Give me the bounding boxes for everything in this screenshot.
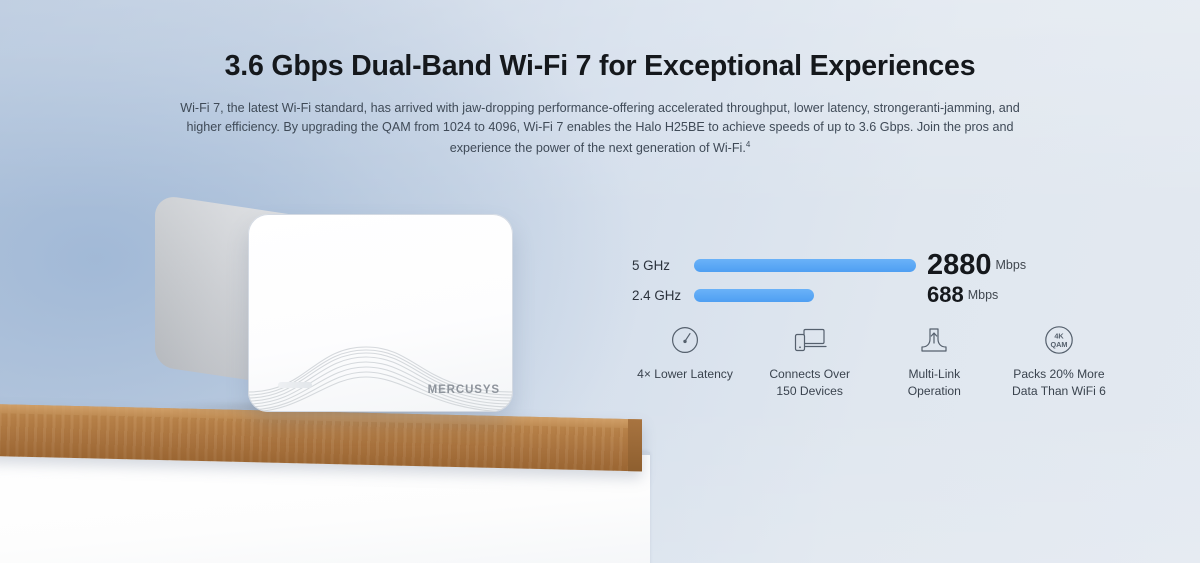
speed-label-24ghz: 2.4 GHz bbox=[632, 288, 694, 303]
qam-badge-icon: 4K QAM bbox=[1000, 320, 1118, 360]
devices-icon bbox=[751, 320, 869, 360]
speed-value-24ghz: 688 bbox=[927, 284, 964, 306]
multi-link-icon bbox=[875, 320, 993, 360]
feature-list: 4× Lower Latency Connects Over150 Device… bbox=[626, 320, 1118, 400]
feature-item-multilink: Multi-LinkOperation bbox=[875, 320, 993, 400]
feature-label-latency: 4× Lower Latency bbox=[626, 366, 744, 383]
router-product-image: MERCUSYS bbox=[155, 196, 517, 412]
speed-unit-5ghz: Mbps bbox=[996, 258, 1027, 272]
speed-unit-24ghz: Mbps bbox=[968, 288, 999, 302]
speed-fill-5ghz bbox=[694, 259, 916, 272]
speed-row-24ghz: 2.4 GHz 688 Mbps bbox=[632, 280, 1052, 310]
router-led-indicator bbox=[278, 382, 312, 388]
page-title: 3.6 Gbps Dual-Band Wi-Fi 7 for Exception… bbox=[0, 50, 1200, 83]
router-front-panel: MERCUSYS bbox=[248, 214, 513, 412]
feature-item-devices: Connects Over150 Devices bbox=[751, 320, 869, 400]
svg-text:QAM: QAM bbox=[1050, 340, 1067, 349]
gauge-icon bbox=[626, 320, 744, 360]
speed-label-5ghz: 5 GHz bbox=[632, 258, 694, 273]
feature-item-latency: 4× Lower Latency bbox=[626, 320, 744, 383]
speed-row-5ghz: 5 GHz 2880 Mbps bbox=[632, 250, 1052, 280]
speed-track-5ghz bbox=[694, 259, 916, 272]
hero-banner: MERCUSYS 3.6 Gbps Dual-Band Wi-Fi 7 for … bbox=[0, 0, 1200, 563]
shelf-end-cap bbox=[628, 419, 642, 471]
feature-item-qam: 4K QAM Packs 20% MoreData Than WiFi 6 bbox=[1000, 320, 1118, 400]
router-brand-logo: MERCUSYS bbox=[428, 384, 500, 396]
hero-paragraph: Wi-Fi 7, the latest Wi-Fi standard, has … bbox=[172, 99, 1028, 158]
speed-chart: 5 GHz 2880 Mbps 2.4 GHz 688 Mbps bbox=[632, 250, 1052, 310]
feature-label-devices: Connects Over150 Devices bbox=[751, 366, 869, 400]
feature-label-multilink: Multi-LinkOperation bbox=[875, 366, 993, 400]
speed-fill-24ghz bbox=[694, 289, 814, 302]
footnote-marker: 4 bbox=[746, 140, 750, 149]
speed-track-24ghz bbox=[694, 289, 916, 302]
speed-value-5ghz: 2880 bbox=[927, 251, 992, 280]
hero-paragraph-text: Wi-Fi 7, the latest Wi-Fi standard, has … bbox=[180, 101, 1020, 155]
feature-label-qam: Packs 20% MoreData Than WiFi 6 bbox=[1000, 366, 1118, 400]
router-wave-pattern bbox=[248, 338, 513, 412]
